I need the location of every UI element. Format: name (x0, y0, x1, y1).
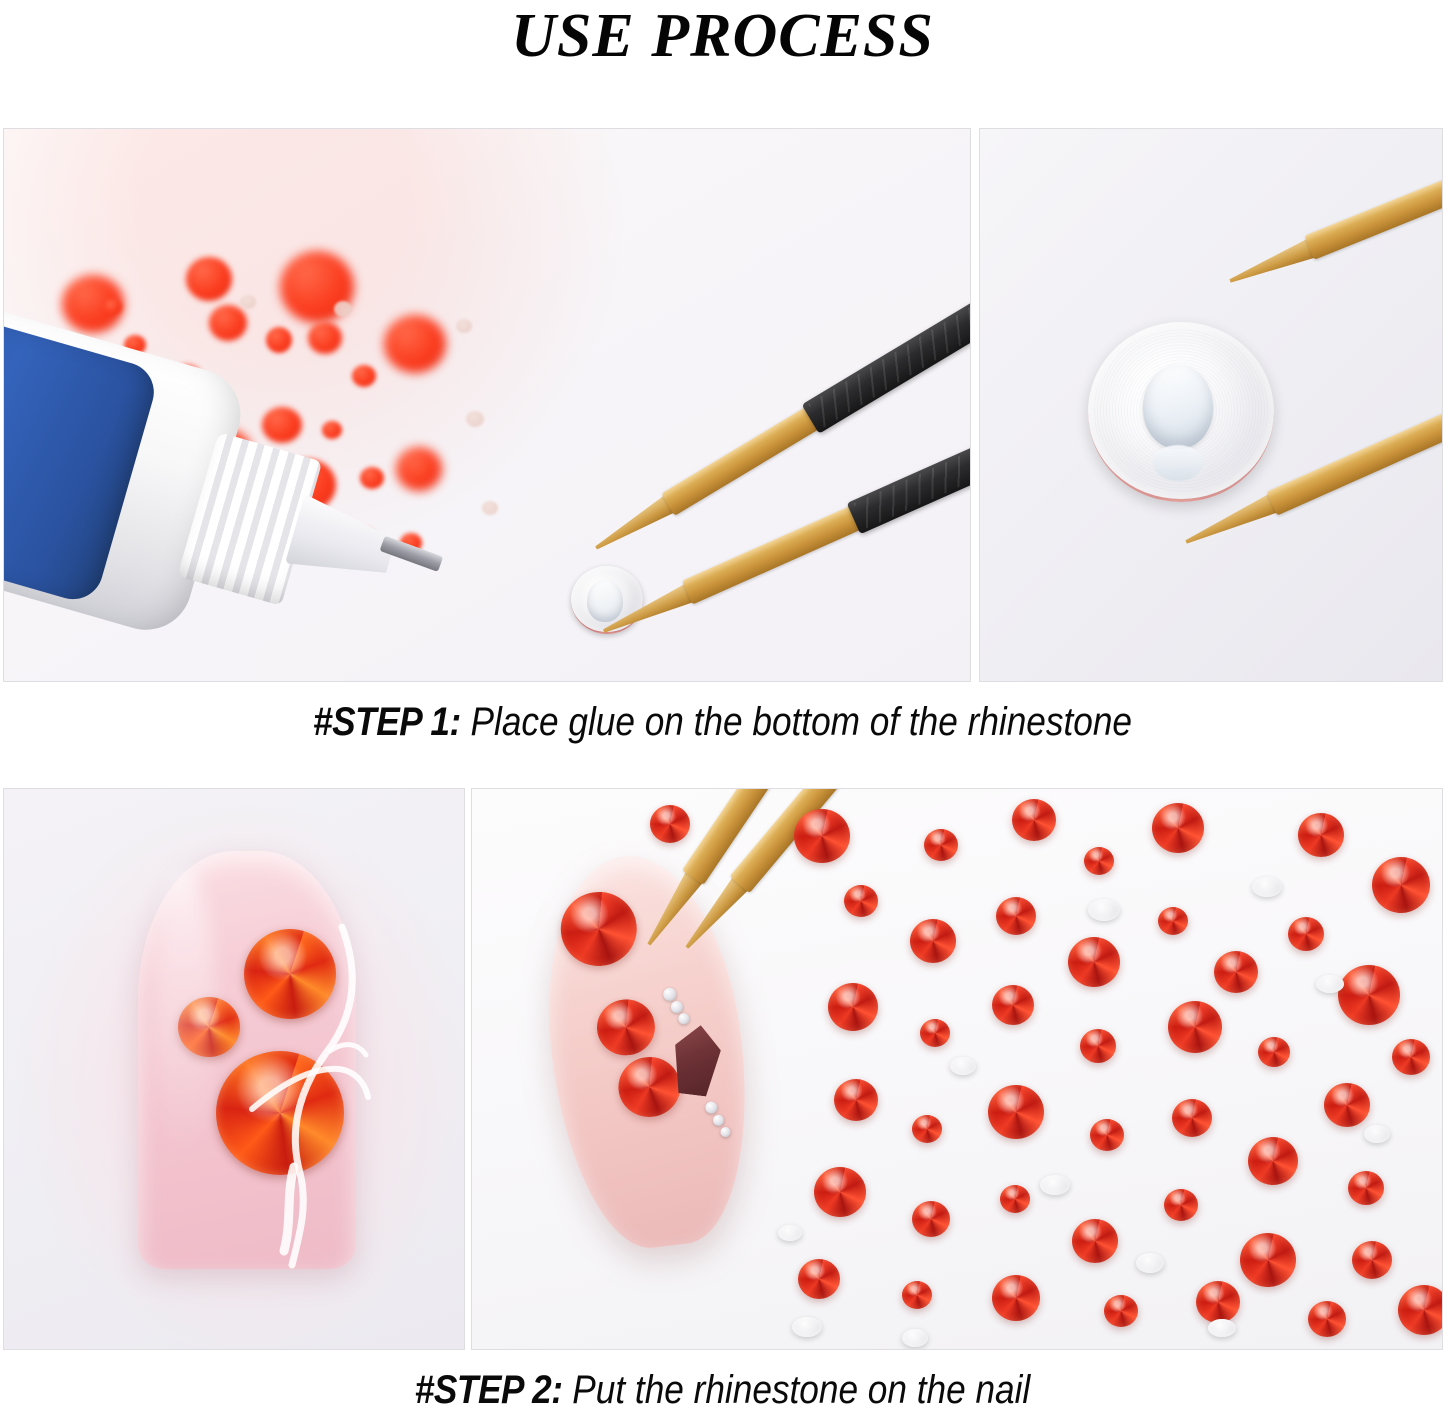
scattered-rhinestone-back (1088, 899, 1120, 921)
scattered-rhinestone (1080, 1029, 1116, 1063)
scattered-rhinestone (1372, 857, 1430, 913)
bokeh-stone (352, 365, 376, 387)
infographic-page: USE PROCESS (0, 0, 1445, 1412)
nail-rhinestone (216, 1051, 344, 1175)
scattered-rhinestone (1012, 799, 1056, 841)
step-2-number: #STEP 2: (415, 1368, 563, 1412)
scattered-rhinestone (1258, 1037, 1290, 1067)
nail-stud (678, 1013, 690, 1025)
nail-stud (670, 1000, 683, 1013)
scattered-rhinestone (920, 1019, 950, 1047)
glue-droplet-reflection (1153, 445, 1203, 481)
scattered-rhinestone (1168, 1001, 1222, 1053)
bokeh-stone-pale (466, 411, 484, 427)
nail-rhinestone (178, 997, 240, 1057)
scattered-rhinestone (1152, 803, 1204, 853)
scattered-rhinestone (1000, 1185, 1030, 1213)
bokeh-stone (104, 299, 122, 315)
glue-label-text: GLRH (3, 346, 8, 555)
glue-applicator-photo: GLRH (3, 128, 971, 682)
scattered-rhinestone (1240, 1233, 1296, 1287)
scattered-rhinestone-back (1364, 1125, 1390, 1143)
scattered-rhinestone (910, 919, 956, 963)
scattered-rhinestone-back (792, 1317, 822, 1337)
nail-stud (705, 1101, 718, 1114)
scattered-rhinestone (828, 983, 878, 1031)
page-title: USE PROCESS (0, 2, 1445, 70)
scattered-rhinestone (1288, 917, 1324, 951)
scattered-rhinestone (650, 805, 690, 843)
scattered-rhinestone (1214, 951, 1258, 993)
scattered-rhinestone (798, 1259, 840, 1299)
scattered-rhinestone-back (902, 1329, 928, 1347)
scattered-rhinestone (996, 897, 1036, 935)
scattered-rhinestone (1352, 1241, 1392, 1279)
scattered-rhinestone (912, 1115, 942, 1143)
bokeh-stone (209, 305, 247, 341)
scattered-rhinestone (1172, 1099, 1212, 1137)
scattered-rhinestone (1398, 1285, 1443, 1335)
scattered-rhinestone (988, 1085, 1044, 1139)
scattered-rhinestone (1158, 907, 1188, 935)
scattered-rhinestone (834, 1079, 878, 1121)
scattered-rhinestone (814, 1167, 866, 1217)
step-1-panel-row: GLRH (3, 128, 1443, 682)
nail-stud (712, 1114, 724, 1126)
scattered-rhinestone (1338, 965, 1400, 1025)
scattered-rhinestone-back (950, 1057, 976, 1075)
bokeh-stone-pale (240, 295, 256, 309)
scattered-rhinestone (1298, 813, 1344, 857)
bokeh-stone-pale (456, 319, 472, 333)
scattered-rhinestone-back (1252, 877, 1282, 897)
scattered-rhinestone-back (778, 1225, 802, 1241)
bokeh-stone (186, 257, 232, 301)
scattered-rhinestone (1248, 1137, 1298, 1185)
scattered-rhinestone-back (1040, 1175, 1070, 1195)
glue-bottle-needle (380, 536, 444, 572)
scattered-rhinestone (1324, 1083, 1370, 1127)
scattered-rhinestone (992, 985, 1034, 1025)
step-1-instruction: Place glue on the bottom of the rhinesto… (471, 700, 1132, 744)
scattered-rhinestone (1308, 1301, 1346, 1337)
step-2-instruction: Put the rhinestone on the nail (572, 1368, 1030, 1412)
bokeh-stone (384, 315, 446, 373)
scattered-rhinestone (1068, 937, 1120, 987)
nail-stud (720, 1126, 731, 1137)
bokeh-stone-pale (334, 301, 352, 317)
scattered-rhinestone (992, 1275, 1040, 1321)
scattered-rhinestone-back (1208, 1319, 1236, 1337)
bokeh-stone (308, 322, 342, 354)
nail-stud (663, 987, 677, 1001)
scattered-rhinestone (1348, 1171, 1384, 1205)
decorated-nail-photo (3, 788, 465, 1350)
scattered-rhinestone (794, 809, 850, 863)
scattered-rhinestone (1164, 1189, 1198, 1221)
scattered-rhinestone (1090, 1119, 1124, 1151)
nail-rhinestone (615, 1053, 684, 1120)
scattered-rhinestone (844, 885, 878, 917)
scattered-rhinestone (912, 1201, 950, 1237)
step-2-caption: #STEP 2: Put the rhinestone on the nail (87, 1368, 1359, 1412)
rhinestone-closeup-photo (979, 128, 1443, 682)
step-2-panel-row (3, 788, 1443, 1350)
scattered-rhinestone-back (1136, 1253, 1164, 1273)
scattered-rhinestone (1196, 1281, 1240, 1323)
scattered-rhinestone (924, 829, 958, 861)
press-on-nail (138, 851, 356, 1269)
step-1-caption: #STEP 1: Place glue on the bottom of the… (87, 700, 1359, 745)
scattered-rhinestone (902, 1281, 932, 1309)
nail-rhinestone (244, 929, 336, 1019)
scattered-rhinestone (1072, 1219, 1118, 1263)
glue-droplet (1143, 365, 1213, 449)
bokeh-stone-pale (482, 501, 498, 515)
scattered-rhinestone (1084, 847, 1114, 875)
bokeh-stone (266, 327, 292, 353)
scattered-rhinestone (1104, 1295, 1138, 1327)
nail-rhinestone (594, 996, 658, 1059)
scattered-rhinestone (1392, 1039, 1430, 1075)
step-1-number: #STEP 1: (313, 700, 461, 744)
nail-application-photo (471, 788, 1443, 1350)
scattered-rhinestone-back (1316, 975, 1344, 993)
